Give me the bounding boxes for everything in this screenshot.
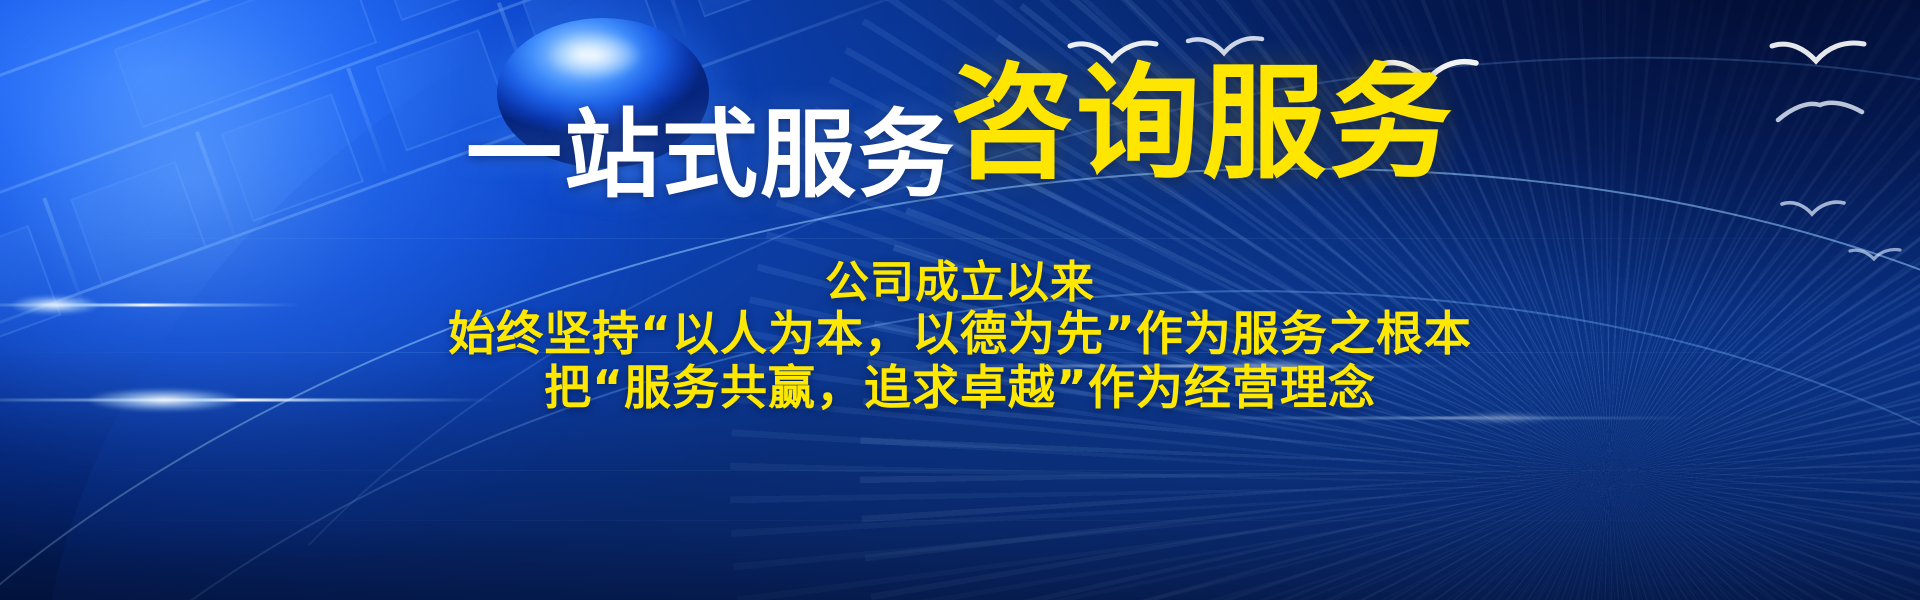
headline: 一站式服务咨询服务 bbox=[0, 62, 1920, 203]
subtext-block: 公司成立以来 始终坚持“以人为本，以德为先”作为服务之根本 把“服务共赢，追求卓… bbox=[0, 258, 1920, 415]
subtext-line-1: 公司成立以来 bbox=[0, 258, 1920, 308]
headline-primary: 一站式服务 bbox=[466, 107, 956, 203]
subtext-line-3: 把“服务共赢，追求卓越”作为经营理念 bbox=[0, 362, 1920, 416]
promo-banner: 一站式服务咨询服务 公司成立以来 始终坚持“以人为本，以德为先”作为服务之根本 … bbox=[0, 0, 1920, 600]
headline-accent: 咨询服务 bbox=[950, 62, 1454, 186]
subtext-line-2: 始终坚持“以人为本，以德为先”作为服务之根本 bbox=[0, 308, 1920, 362]
